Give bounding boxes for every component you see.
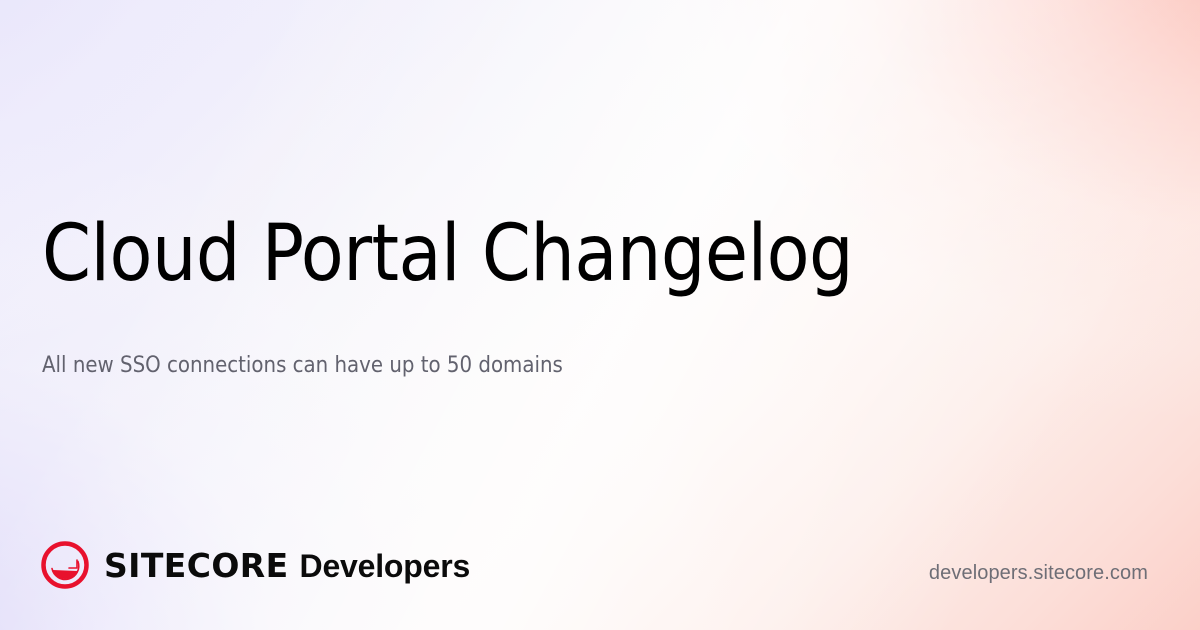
page-title: Cloud Portal Changelog [42,215,1092,293]
sitecore-ring-icon [40,540,90,590]
brand-name-sitecore: SITECORE [104,549,289,582]
brand-suffix-developers: Developers [300,550,471,582]
social-share-card: Cloud Portal Changelog All new SSO conne… [0,0,1200,630]
brand-lockup-group: SITECORE Developers [40,538,470,592]
brand-wordmark: SITECORE Developers [104,549,470,582]
footer-site-url: developers.sitecore.com [929,562,1148,585]
card-content: Cloud Portal Changelog All new SSO conne… [0,0,1200,630]
page-subtitle: All new SSO connections can have up to 5… [42,352,1042,381]
